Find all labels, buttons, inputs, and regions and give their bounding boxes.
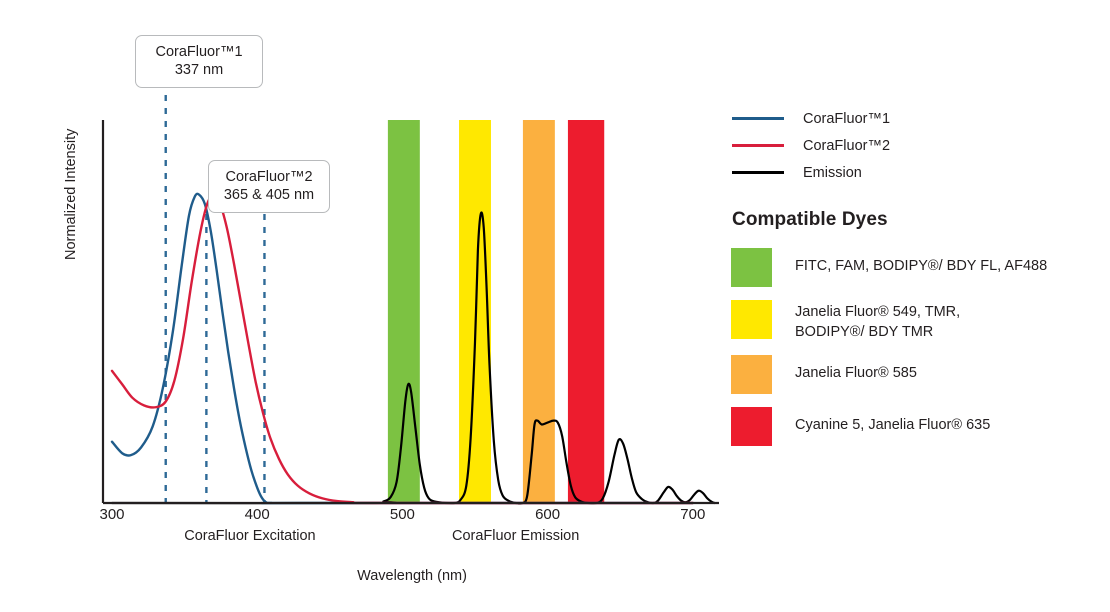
- red-band: [568, 120, 604, 503]
- legend-series-label: CoraFluor™1: [803, 111, 890, 127]
- dye-legend-row: Cyanine 5, Janelia Fluor® 635: [731, 407, 1110, 446]
- dye-label: Janelia Fluor® 585: [795, 355, 917, 383]
- callout-corafluor2-value: 365 & 405 nm: [219, 186, 319, 204]
- compatible-dyes-heading: Compatible Dyes: [732, 209, 1110, 231]
- x-axis-title: Wavelength (nm): [357, 568, 467, 584]
- legend-line-swatch: [732, 144, 784, 147]
- dye-label: FITC, FAM, BODIPY®/ BDY FL, AF488: [795, 248, 1047, 276]
- callout-corafluor1: CoraFluor™1 337 nm: [135, 35, 263, 88]
- dye-color-swatch: [731, 355, 772, 394]
- callout-corafluor1-title: CoraFluor™1: [146, 43, 252, 61]
- dye-color-swatch: [731, 248, 772, 287]
- dye-legend-row: FITC, FAM, BODIPY®/ BDY FL, AF488: [731, 248, 1110, 287]
- dye-color-swatch: [731, 300, 772, 339]
- dye-label: Cyanine 5, Janelia Fluor® 635: [795, 407, 990, 435]
- legend-series-label: CoraFluor™2: [803, 138, 890, 154]
- dye-color-swatch: [731, 407, 772, 446]
- x-tick-300: 300: [99, 506, 124, 523]
- y-axis-title: Normalized Intensity: [63, 240, 79, 260]
- legend-series-row: CoraFluor™2: [731, 132, 1110, 159]
- x-tick-400: 400: [245, 506, 270, 523]
- legend-series-label: Emission: [803, 165, 862, 181]
- spectra-figure: CoraFluor™1 337 nm CoraFluor™2 365 & 405…: [0, 0, 1110, 612]
- legend-line-swatch: [732, 117, 784, 120]
- x-tick-600: 600: [535, 506, 560, 523]
- compatible-dyes-list: FITC, FAM, BODIPY®/ BDY FL, AF488Janelia…: [731, 248, 1110, 446]
- legend-panel: CoraFluor™1CoraFluor™2Emission Compatibl…: [731, 105, 1110, 459]
- x-tick-500: 500: [390, 506, 415, 523]
- green-band: [388, 120, 420, 503]
- callout-corafluor2-title: CoraFluor™2: [219, 168, 319, 186]
- legend-line-swatch: [732, 171, 784, 175]
- series-legend: CoraFluor™1CoraFluor™2Emission: [731, 105, 1110, 186]
- dye-legend-row: Janelia Fluor® 585: [731, 355, 1110, 394]
- legend-series-row: Emission: [731, 159, 1110, 186]
- orange-band: [523, 120, 555, 503]
- dye-legend-row: Janelia Fluor® 549, TMR, BODIPY®/ BDY TM…: [731, 300, 1110, 342]
- legend-series-row: CoraFluor™1: [731, 105, 1110, 132]
- x-axis-region-label-excitation: CoraFluor Excitation: [184, 528, 315, 544]
- x-axis-region-label-emission: CoraFluor Emission: [452, 528, 579, 544]
- dye-label: Janelia Fluor® 549, TMR, BODIPY®/ BDY TM…: [795, 300, 960, 342]
- callout-corafluor1-value: 337 nm: [146, 61, 252, 79]
- callout-corafluor2: CoraFluor™2 365 & 405 nm: [208, 160, 330, 213]
- x-tick-700: 700: [680, 506, 705, 523]
